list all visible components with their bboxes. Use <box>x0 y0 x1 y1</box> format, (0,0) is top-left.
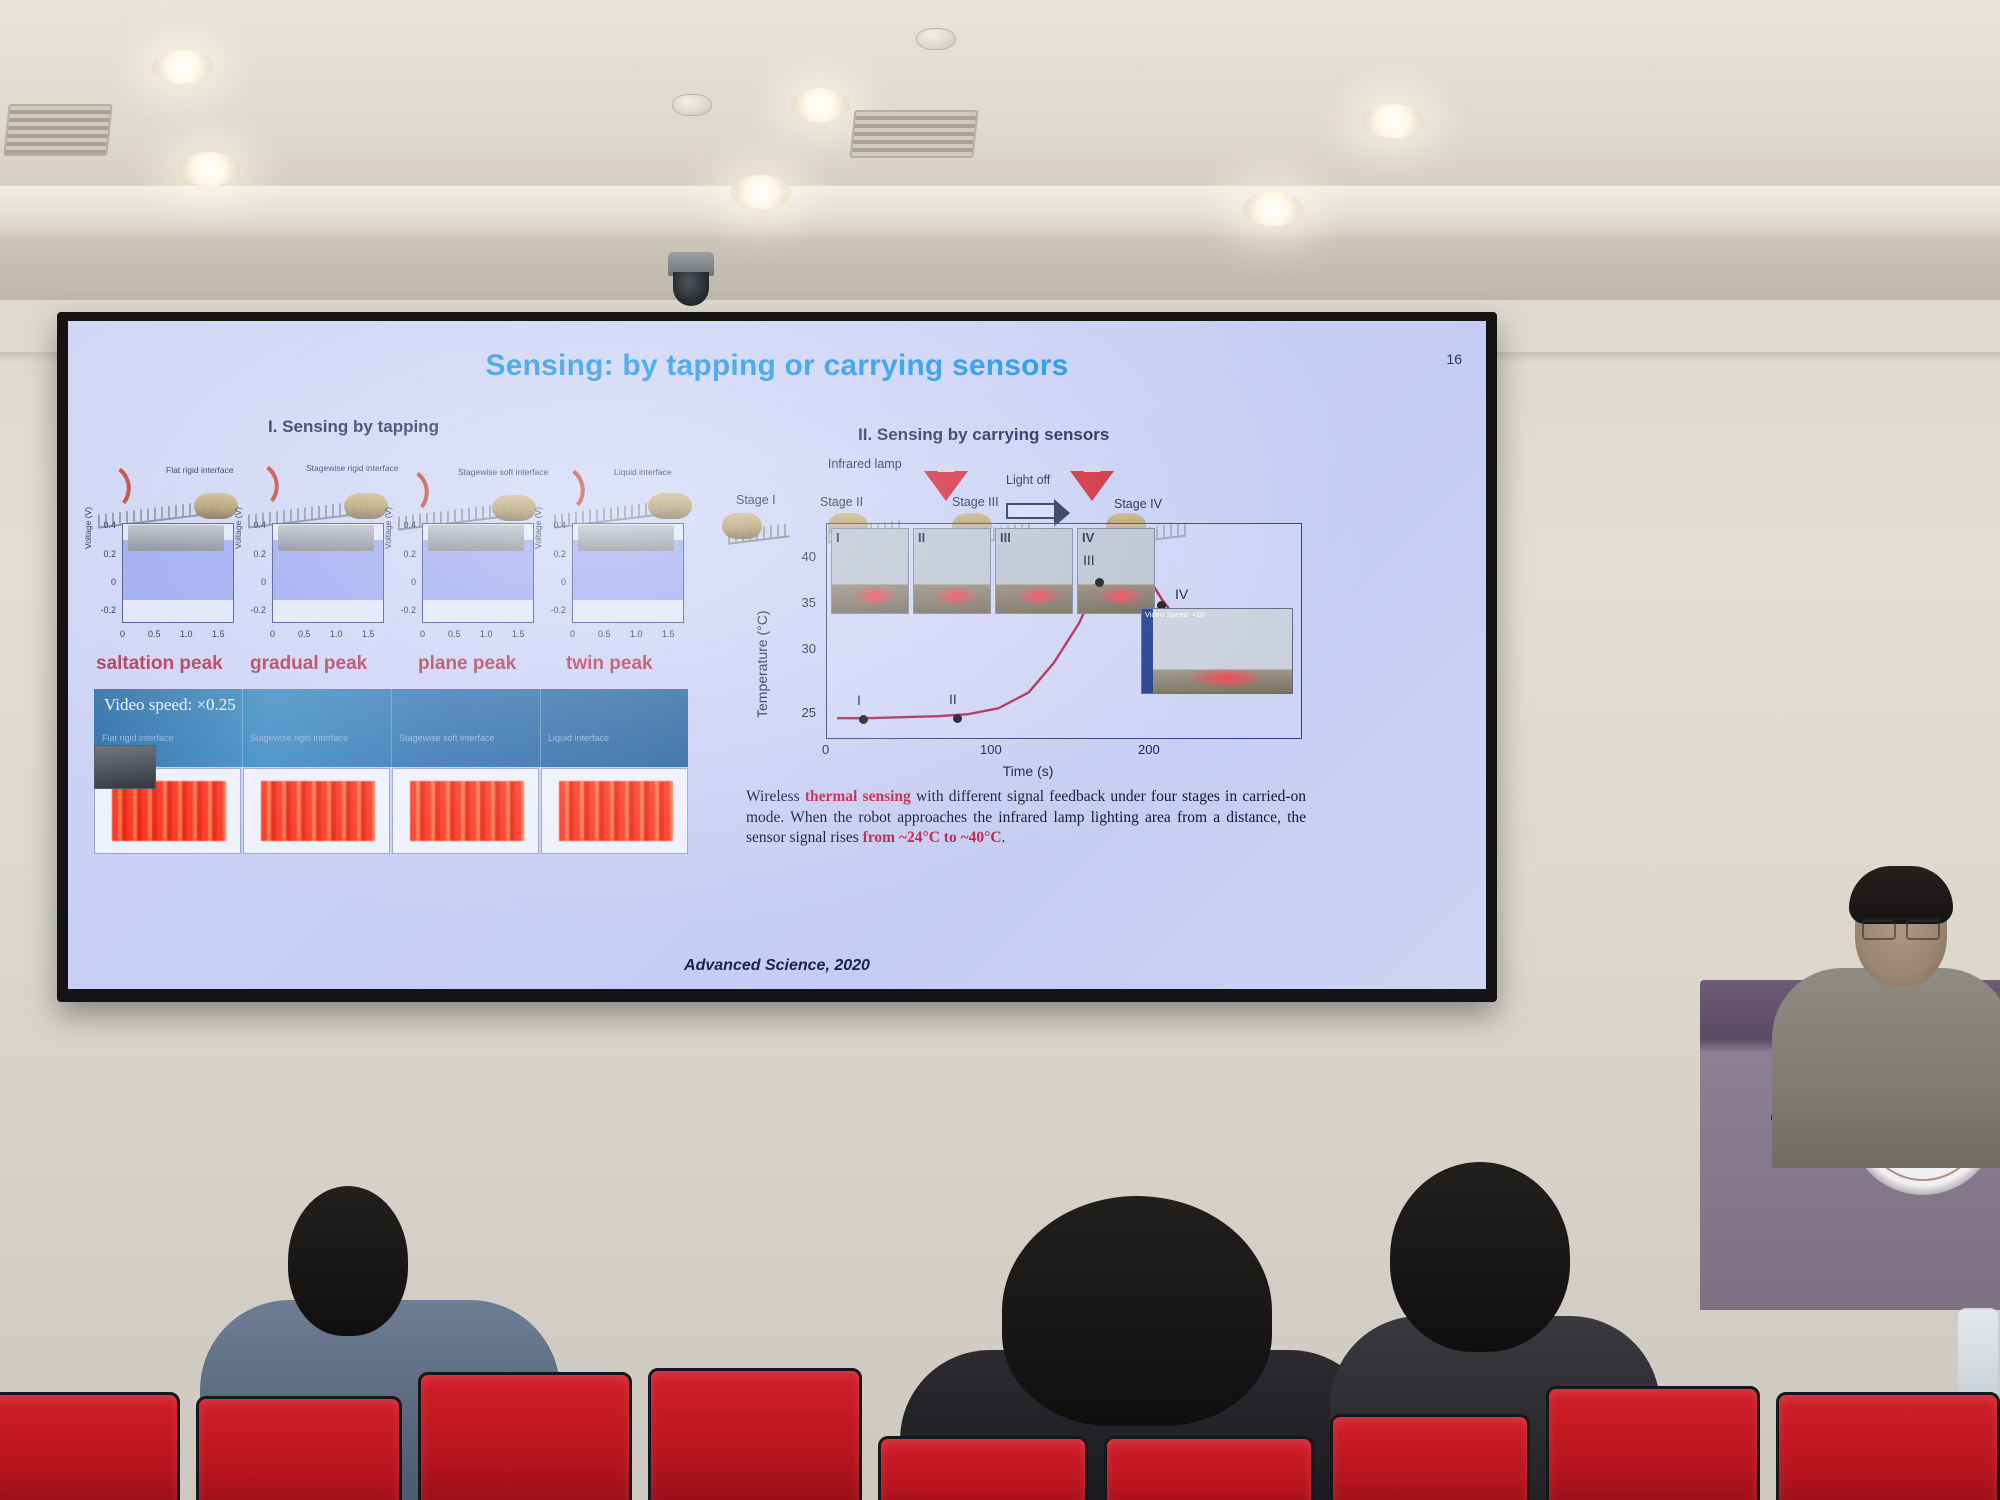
ceiling-light <box>1242 192 1304 226</box>
ceiling <box>0 0 2000 300</box>
axis-tick-y: -0.2 <box>392 605 416 615</box>
axis-tick-x: 1.5 <box>212 629 225 639</box>
arrow-icon <box>403 472 439 508</box>
axis-tick-x: 0 <box>570 629 575 639</box>
axis-tick-y: 0.2 <box>392 549 416 559</box>
stage-thumbnail: IV <box>1077 528 1155 614</box>
ir-glow <box>1016 586 1062 606</box>
heatmap-cell <box>392 768 539 854</box>
seat <box>1104 1436 1314 1500</box>
data-point-label: III <box>1083 552 1095 568</box>
axis-tick-x: 0.5 <box>448 629 461 639</box>
infrared-lamp-label: Infrared lamp <box>828 457 902 471</box>
data-point-label: II <box>949 691 957 707</box>
infrared-lamp-icon <box>1070 471 1114 501</box>
footer-citation: Advanced Science, 2020 <box>68 957 1486 975</box>
projection-screen: Sensing: by tapping or carrying sensors … <box>57 312 1497 1002</box>
axis-tick-y: 0 <box>392 577 416 587</box>
axis-tick-x: 0 <box>120 629 125 639</box>
axis-tick-y: 0 <box>542 577 566 587</box>
slide-content: Sensing: by tapping or carrying sensors … <box>68 321 1486 989</box>
audience-head <box>1390 1162 1570 1352</box>
section-heading-left: I. Sensing by tapping <box>268 417 439 437</box>
ceiling-light <box>730 175 792 209</box>
inline-photo <box>578 525 674 551</box>
stage-thumbnail-marker: IV <box>1082 530 1094 545</box>
ir-glow <box>934 586 980 606</box>
data-point-label: IV <box>1175 586 1188 602</box>
stage-thumbnail-marker: III <box>1000 530 1011 545</box>
robot-graphic <box>194 493 238 519</box>
video-sub-label: Stagewise soft interface <box>399 733 495 743</box>
data-point-marker <box>859 715 868 724</box>
axis-tick-y: 0.4 <box>542 520 566 530</box>
caption-text-3: . <box>1002 829 1006 846</box>
interface-label: Stagewise soft interface <box>458 467 548 477</box>
divider <box>242 689 243 767</box>
axis-tick-x: 1.5 <box>512 629 525 639</box>
data-point-marker <box>953 714 962 723</box>
audience-head <box>288 1186 408 1336</box>
divider <box>540 689 541 767</box>
glasses-icon <box>1862 918 1940 934</box>
voltage-chart: Voltage (V) 0.4 0.2 0 -0.2 0 0.5 1.0 1.5 <box>236 519 384 641</box>
heatmap-cell <box>243 768 390 854</box>
axis-tick-x: 200 <box>1138 742 1160 757</box>
video-speed-label: Video speed: ×0.25 <box>104 695 236 715</box>
divider <box>391 689 392 767</box>
seat <box>878 1436 1088 1500</box>
video-sub-label: Liquid interface <box>548 733 609 743</box>
data-point-label: I <box>857 692 861 708</box>
video-sub-label: Stagewise rigid interface <box>250 733 348 743</box>
ceiling-camera-icon <box>668 252 714 276</box>
presenter-body <box>1772 968 2000 1168</box>
inset-bar <box>1142 609 1153 693</box>
seat <box>648 1368 862 1500</box>
ceiling-light <box>152 50 214 84</box>
arrow-icon <box>253 466 289 502</box>
axis-tick-y: 35 <box>782 595 816 610</box>
heat-blob <box>261 781 374 842</box>
axis-tick-x: 0.5 <box>298 629 311 639</box>
peak-label: plane peak <box>418 653 516 675</box>
axis-tick-y: 0 <box>92 577 116 587</box>
slide-title: Sensing: by tapping or carrying sensors <box>68 349 1486 383</box>
axis-tick-x: 1.0 <box>330 629 343 639</box>
ceiling-light <box>790 88 850 122</box>
axis-tick-y: 30 <box>782 641 816 656</box>
arrow-icon <box>105 468 141 504</box>
stage-thumbnail: I <box>831 528 909 614</box>
stage-thumbnail: III <box>995 528 1073 614</box>
robot-graphic <box>344 493 388 519</box>
interface-label: Liquid interface <box>614 467 672 477</box>
seat <box>1546 1386 1760 1500</box>
arrow-right-icon <box>1006 503 1056 519</box>
axis-label-y: Temperature (°C) <box>754 610 770 718</box>
ceiling-light <box>178 152 240 186</box>
air-vent <box>3 104 112 156</box>
stage-label: Stage IV <box>1114 497 1162 511</box>
seat <box>196 1396 402 1500</box>
axis-tick-x: 1.0 <box>480 629 493 639</box>
seat <box>1330 1414 1530 1500</box>
seat <box>0 1392 180 1500</box>
air-vent <box>849 110 978 158</box>
ir-glow <box>1098 586 1144 606</box>
axis-tick-y: 0.4 <box>92 520 116 530</box>
peak-label: twin peak <box>566 653 653 675</box>
interface-label: Flat rigid interface <box>166 465 234 475</box>
axis-tick-x: 1.5 <box>362 629 375 639</box>
photo-scene: Sensing: by tapping or carrying sensors … <box>0 0 2000 1500</box>
axis-tick-y: 0.2 <box>242 549 266 559</box>
voltage-chart: Voltage (V) 0.4 0.2 0 -0.2 0 0.5 1.0 1.5 <box>386 519 534 641</box>
arrow-icon <box>559 470 595 506</box>
smoke-detector-icon <box>672 94 712 116</box>
seat <box>418 1372 632 1500</box>
axis-tick-y: -0.2 <box>92 605 116 615</box>
video-strip[interactable]: Video speed: ×0.25 Flat rigid interface … <box>94 689 688 767</box>
heatmap-row <box>94 768 688 854</box>
axis-tick-x: 1.0 <box>180 629 193 639</box>
smoke-detector-icon <box>916 28 956 50</box>
robot-graphic <box>492 495 536 521</box>
peak-label: gradual peak <box>250 653 367 675</box>
presenter-hair <box>1849 866 1953 924</box>
axis-tick-y: 0.2 <box>92 549 116 559</box>
voltage-chart: Voltage (V) 0.4 0.2 0 -0.2 0 0.5 1.0 1.5 <box>86 519 234 641</box>
caption-highlight-1: thermal sensing <box>805 788 911 805</box>
inset-video-speed-label: Video Speed: ×10 <box>1145 610 1205 619</box>
video-sub-label: Flat rigid interface <box>102 733 174 743</box>
slide-page-number: 16 <box>1446 351 1462 367</box>
axis-tick-y: 0 <box>242 577 266 587</box>
robot-graphic <box>648 493 692 519</box>
caption-text-1: Wireless <box>746 788 805 805</box>
axis-tick-x: 0.5 <box>598 629 611 639</box>
stage-thumbnail-marker: II <box>918 530 925 545</box>
ceiling-band <box>0 185 2000 237</box>
infrared-lamp-icon <box>924 471 968 501</box>
axis-tick-x: 100 <box>980 742 1002 757</box>
ceiling-light <box>1362 104 1424 138</box>
inline-photo <box>94 745 156 789</box>
light-off-label: Light off <box>1006 473 1050 487</box>
seat <box>1776 1392 2000 1500</box>
data-point-marker <box>1095 578 1104 587</box>
caption-highlight-2: from ~24°C to ~40°C <box>863 829 1002 846</box>
axis-label-x: Time (s) <box>748 763 1308 779</box>
axis-tick-y: 0.4 <box>392 520 416 530</box>
axis-tick-y: -0.2 <box>542 605 566 615</box>
heat-blob <box>112 781 225 842</box>
axis-tick-y: 25 <box>782 705 816 720</box>
axis-tick-y: -0.2 <box>242 605 266 615</box>
inset-video[interactable]: Video Speed: ×10 <box>1141 608 1293 694</box>
plot-area: I II III IV I <box>826 523 1302 739</box>
axis-tick-x: 0 <box>822 742 829 757</box>
peak-label: saltation peak <box>96 653 223 675</box>
axis-tick-y: 40 <box>782 549 816 564</box>
inline-photo <box>428 525 524 551</box>
axis-tick-x: 1.5 <box>662 629 675 639</box>
heat-blob <box>559 781 672 842</box>
audience-head <box>1002 1196 1272 1426</box>
interface-label: Stagewise rigid interface <box>306 463 399 473</box>
heatmap-cell <box>541 768 688 854</box>
axis-tick-x: 1.0 <box>630 629 643 639</box>
axis-tick-x: 0.5 <box>148 629 161 639</box>
ir-glow <box>852 586 898 606</box>
stage-thumbnail-marker: I <box>836 530 840 545</box>
stage-thumbnail: II <box>913 528 991 614</box>
stage-label: Stage II <box>820 495 863 509</box>
section-heading-right: II. Sensing by carrying sensors <box>858 425 1109 445</box>
axis-tick-y: 0.2 <box>542 549 566 559</box>
inline-photo <box>278 525 374 551</box>
stage-label: Stage I <box>736 493 776 507</box>
axis-tick-y: 0.4 <box>242 520 266 530</box>
axis-tick-x: 0 <box>420 629 425 639</box>
voltage-chart: Voltage (V) 0.4 0.2 0 -0.2 0 0.5 1.0 1.5 <box>536 519 684 641</box>
figure-caption: Wireless thermal sensing with different … <box>746 787 1306 849</box>
axis-tick-x: 0 <box>270 629 275 639</box>
ir-glow <box>1187 668 1265 688</box>
heat-blob <box>410 781 523 842</box>
temperature-chart: Temperature (°C) 40 35 30 25 I II <box>748 523 1308 773</box>
inline-photo <box>128 525 224 551</box>
